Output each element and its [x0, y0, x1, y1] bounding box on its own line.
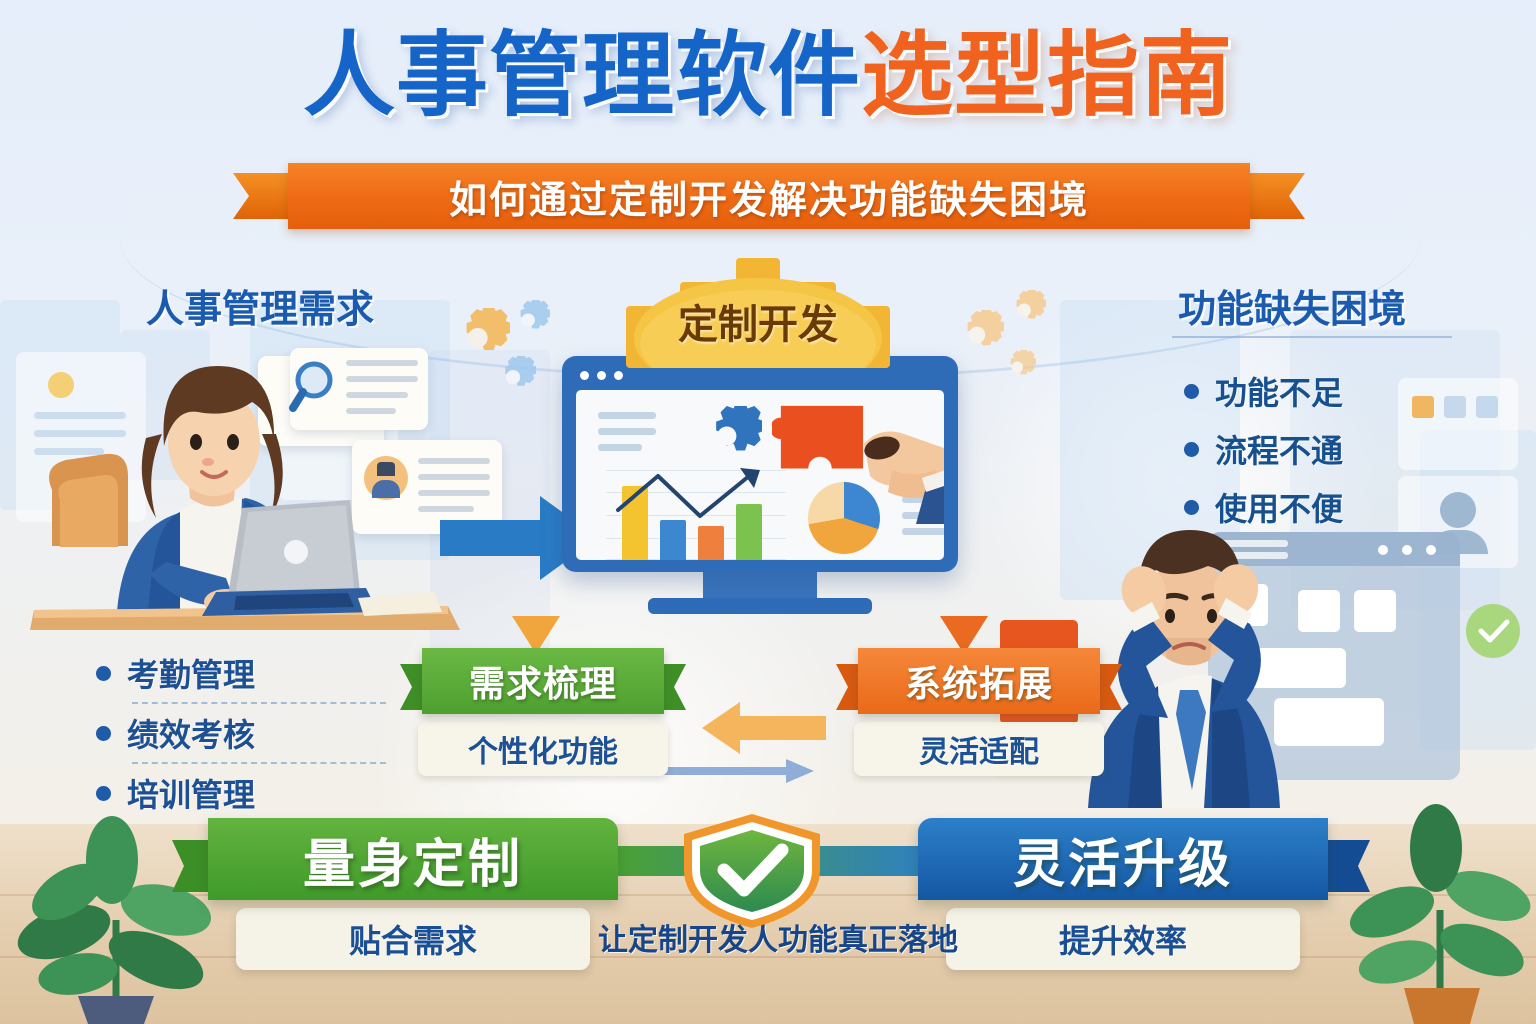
- expansion-card: 灵活适配: [854, 722, 1104, 776]
- list-item: 流程不通: [1184, 426, 1343, 472]
- title-primary: 人事管理软件: [303, 25, 861, 127]
- trend-line-chart: [614, 466, 786, 528]
- bar-chart: [606, 470, 786, 560]
- window-dot: [614, 371, 623, 380]
- list-item-label: 流程不通: [1215, 426, 1343, 472]
- list-divider: [132, 762, 386, 764]
- monitor-base: [648, 598, 872, 614]
- card-text-line: [346, 392, 408, 398]
- subtitle-text: 如何通过定制开发解决功能缺失困境: [449, 169, 1089, 224]
- requirement-ribbon: 需求梳理: [400, 648, 686, 720]
- bullet-dot: [96, 786, 111, 801]
- window-dot: [1378, 545, 1388, 555]
- background-tile: [1444, 396, 1466, 418]
- list-item: 使用不便: [1184, 484, 1343, 530]
- tailor-made-card-label: 贴合需求: [349, 916, 477, 962]
- list-item-label: 功能不足: [1215, 368, 1343, 414]
- dashboard-monitor: [562, 356, 958, 572]
- band-body: 灵活升级: [918, 818, 1328, 900]
- ribbon-body: 系统拓展: [858, 648, 1100, 714]
- background-tile: [1476, 396, 1498, 418]
- hand-icon: [846, 404, 944, 524]
- screen-text-line: [598, 444, 642, 451]
- window-dot: [1426, 545, 1436, 555]
- card-text-line: [418, 474, 490, 480]
- monitor-screen: [576, 390, 944, 560]
- gear-icon: [1004, 290, 1046, 332]
- screen-text-line: [902, 528, 944, 535]
- avatar: [1440, 492, 1476, 528]
- poster-header: 人事管理软件选型指南: [0, 28, 1536, 125]
- tailor-made-card: 贴合需求: [236, 908, 590, 970]
- list-item-label: 培训管理: [127, 770, 255, 816]
- list-item-label: 绩效考核: [127, 710, 255, 756]
- page-title: 人事管理软件选型指南: [303, 28, 1233, 125]
- gear-icon: [1000, 350, 1036, 386]
- window-dot: [597, 371, 606, 380]
- title-accent: 选型指南: [861, 25, 1233, 127]
- ribbon-body: 需求梳理: [422, 648, 664, 714]
- plant-icon: [1340, 790, 1536, 1024]
- left-bullet-list: 考勤管理 绩效考核 培训管理: [96, 650, 386, 816]
- subtitle-banner: 如何通过定制开发解决功能缺失困境: [233, 163, 1305, 229]
- list-item: 考勤管理: [96, 650, 386, 696]
- right-column-heading: 功能缺失困境: [1178, 278, 1406, 333]
- list-item: 绩效考核: [96, 710, 386, 756]
- banner-tail-right: [1247, 173, 1305, 219]
- expansion-card-label: 灵活适配: [919, 727, 1039, 771]
- tailor-made-band: 量身定制: [208, 818, 618, 906]
- custom-development-badge: 定制开发: [608, 252, 908, 368]
- background-document: [1398, 378, 1518, 470]
- bullet-dot: [1184, 500, 1199, 515]
- gear-icon: [698, 406, 762, 470]
- gear-icon: [952, 310, 1004, 362]
- badge-label: 定制开发: [608, 292, 908, 350]
- bullet-dot: [1184, 384, 1199, 399]
- requirement-card: 个性化功能: [418, 722, 668, 776]
- gear-icon: [508, 300, 550, 342]
- plant-icon: [6, 800, 236, 1024]
- bullet-dot: [1184, 442, 1199, 457]
- list-item-label: 考勤管理: [127, 650, 255, 696]
- expansion-ribbon: 系统拓展: [836, 648, 1122, 720]
- window-dot: [1402, 545, 1412, 555]
- window-dot: [580, 371, 589, 380]
- screen-text-line: [598, 412, 656, 419]
- banner-tail-left: [233, 173, 291, 219]
- list-divider: [132, 702, 386, 704]
- card-text-line: [346, 408, 396, 414]
- flexible-upgrade-card: 提升效率: [946, 908, 1300, 970]
- background-tile: [1412, 396, 1434, 418]
- list-item-label: 使用不便: [1215, 484, 1343, 530]
- chart-bar: [698, 526, 724, 560]
- arrow-right-icon: [660, 758, 816, 784]
- list-item: 功能不足: [1184, 368, 1343, 414]
- banner-body: 如何通过定制开发解决功能缺失困境: [288, 163, 1250, 229]
- screen-text-line: [598, 428, 656, 435]
- band-body: 量身定制: [208, 818, 618, 900]
- ribbon-label: 需求梳理: [469, 655, 617, 707]
- gear-icon: [492, 356, 536, 400]
- band-label: 灵活升级: [1013, 822, 1233, 897]
- card-text-line: [418, 458, 490, 464]
- card-text-line: [346, 360, 418, 366]
- monitor-stand: [703, 572, 817, 598]
- card-text-line: [346, 376, 418, 382]
- arrow-left-icon: [700, 700, 828, 756]
- shield-check-icon: [676, 812, 828, 930]
- bullet-dot: [96, 726, 111, 741]
- requirement-card-label: 个性化功能: [468, 727, 618, 771]
- ribbon-label: 系统拓展: [905, 655, 1053, 707]
- band-label: 量身定制: [303, 822, 523, 897]
- avatar-head: [377, 462, 395, 476]
- right-heading-rule: [1172, 336, 1452, 338]
- check-badge-glyph: [1478, 618, 1510, 644]
- list-item: 培训管理: [96, 770, 386, 816]
- magnifier-icon: [288, 358, 340, 416]
- bullet-dot: [96, 666, 111, 681]
- left-column-heading: 人事管理需求: [146, 278, 374, 333]
- right-bullet-list: 功能不足 流程不通 使用不便: [1184, 368, 1343, 530]
- avatar-body: [372, 480, 400, 498]
- window-tile: [1354, 590, 1396, 632]
- flexible-upgrade-card-label: 提升效率: [1059, 916, 1187, 962]
- infographic-poster: 人事管理软件选型指南 如何通过定制开发解决功能缺失困境 人事管理需求 功能缺失困…: [0, 0, 1536, 1024]
- flexible-upgrade-band: 灵活升级: [918, 818, 1328, 906]
